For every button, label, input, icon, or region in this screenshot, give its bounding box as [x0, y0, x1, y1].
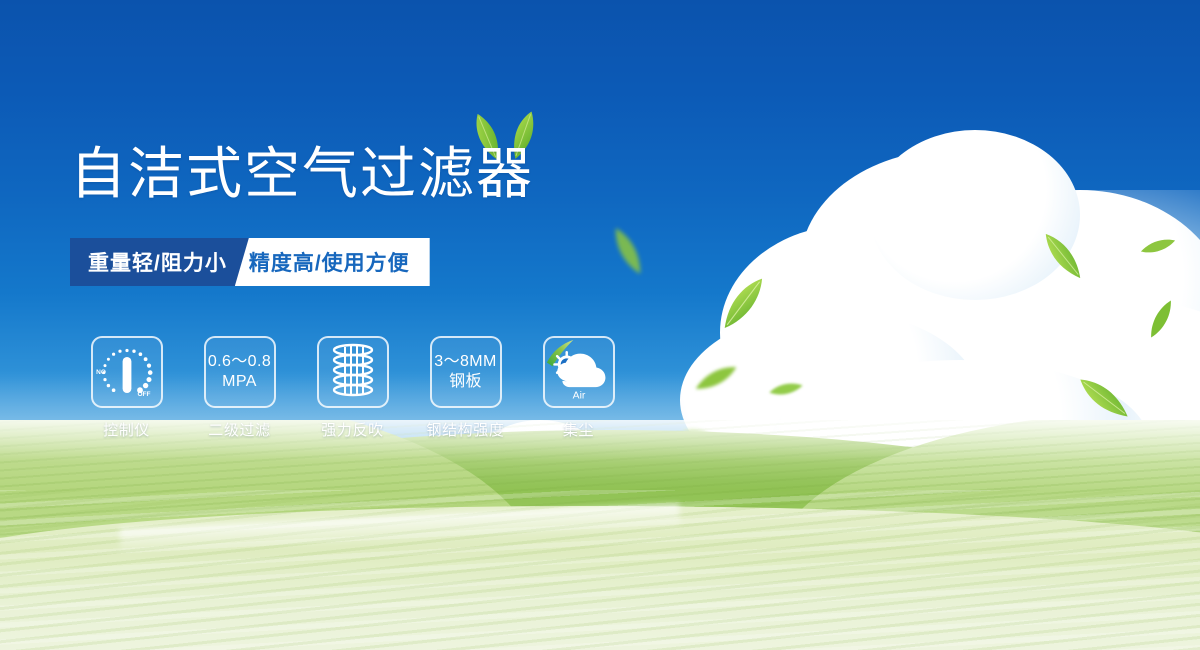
dial-on-label: NO — [96, 369, 106, 376]
feature-item-control[interactable]: NO OFF 控制仪 — [70, 336, 183, 440]
dial-gauge-icon: NO OFF — [93, 338, 161, 406]
feature-label: 钢结构强度 — [426, 419, 504, 440]
feature-item-pressure[interactable]: 0.6～0.8MPA 二级过滤 — [183, 336, 296, 440]
subtitle-right: 精度高/使用方便 — [235, 238, 430, 286]
product-banner: 自洁式空气过滤器 重量轻/阻力小 精度高/使用方便 — [0, 0, 1200, 650]
feature-box: NO OFF — [91, 336, 163, 408]
feature-label: 二级过滤 — [208, 419, 270, 440]
feature-box — [317, 336, 389, 408]
feature-list: NO OFF 控制仪 0.6～0.8MPA 二级过滤 — [70, 336, 635, 440]
feature-item-steel[interactable]: 3～8MM钢板 钢结构强度 — [409, 336, 522, 440]
page-title: 自洁式空气过滤器 — [70, 143, 534, 205]
feature-box: 0.6～0.8MPA — [204, 336, 276, 408]
subtitle-left: 重量轻/阻力小 — [70, 238, 249, 286]
air-cloud-icon: Air — [545, 336, 613, 408]
air-label: Air — [572, 390, 585, 401]
feature-item-dust[interactable]: Air 集尘 — [522, 336, 635, 440]
steel-text-icon: 3～8MM钢板 — [434, 352, 496, 392]
coil-airflow-icon — [321, 341, 385, 403]
dial-off-label: OFF — [137, 391, 150, 398]
feature-label: 集尘 — [563, 419, 594, 440]
feature-label: 强力反吹 — [321, 419, 383, 440]
feature-label: 控制仪 — [103, 419, 150, 440]
feature-box: Air — [543, 336, 615, 408]
feature-item-blowback[interactable]: 强力反吹 — [296, 336, 409, 440]
grass-landscape — [0, 420, 1200, 650]
feature-box: 3～8MM钢板 — [430, 336, 502, 408]
subtitle-bar: 重量轻/阻力小 精度高/使用方便 — [70, 238, 430, 286]
pressure-text-icon: 0.6～0.8MPA — [208, 352, 271, 392]
